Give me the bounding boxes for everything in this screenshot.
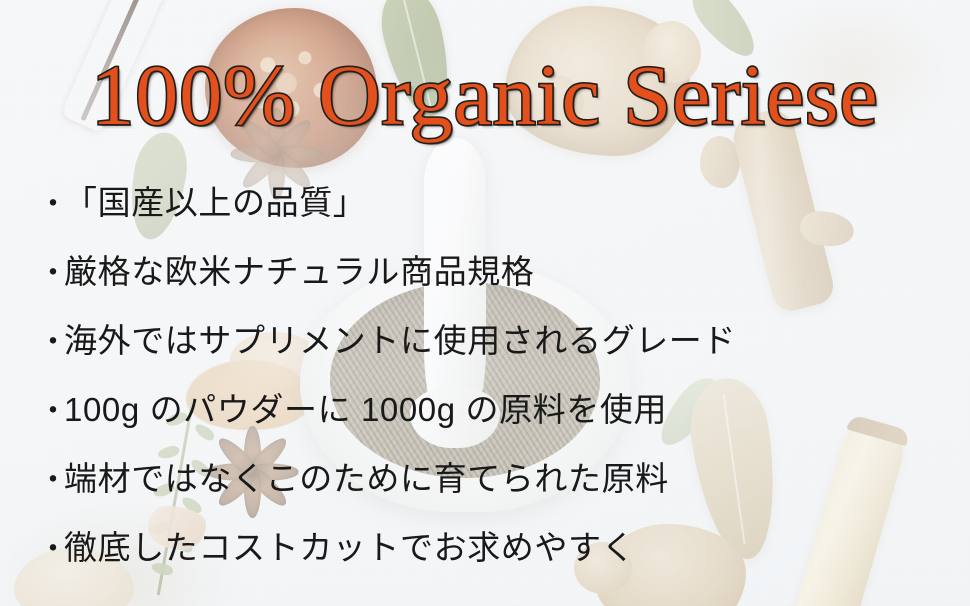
feature-bullet-1: ・ 「国産以上の品質」 — [38, 168, 946, 237]
feature-bullet-3: ・ 海外ではサプリメントに使用されるグレード — [38, 306, 946, 375]
feature-bullet-2-label: 厳格な欧米ナチュラル商品規格 — [64, 237, 534, 306]
bullet-marker-icon: ・ — [38, 377, 64, 446]
bullet-marker-icon: ・ — [38, 515, 64, 584]
feature-bullet-2: ・ 厳格な欧米ナチュラル商品規格 — [38, 237, 946, 306]
feature-bullet-5: ・ 端材ではなくこのために育てられた原料 — [38, 444, 946, 513]
feature-bullet-4: ・ 100g のパウダーに 1000g の原料を使用 — [38, 375, 946, 444]
bullet-marker-icon: ・ — [38, 308, 64, 377]
feature-bullet-1-label: 「国産以上の品質」 — [64, 168, 366, 237]
bullet-marker-icon: ・ — [38, 239, 64, 308]
feature-bullet-5-label: 端材ではなくこのために育てられた原料 — [64, 444, 669, 513]
promo-banner: 100% Organic Seriese ・ 「国産以上の品質」 ・ 厳格な欧米… — [0, 0, 970, 606]
feature-bullet-6-label: 徹底したコストカットでお求めやすく — [64, 513, 635, 582]
feature-bullet-list: ・ 「国産以上の品質」 ・ 厳格な欧米ナチュラル商品規格 ・ 海外ではサプリメン… — [38, 168, 946, 582]
banner-title: 100% Organic Seriese — [0, 52, 970, 138]
feature-bullet-3-label: 海外ではサプリメントに使用されるグレード — [64, 306, 736, 375]
feature-bullet-4-label: 100g のパウダーに 1000g の原料を使用 — [64, 375, 667, 444]
banner-content: 100% Organic Seriese ・ 「国産以上の品質」 ・ 厳格な欧米… — [0, 0, 970, 606]
bullet-marker-icon: ・ — [38, 446, 64, 515]
feature-bullet-6: ・ 徹底したコストカットでお求めやすく — [38, 513, 946, 582]
bullet-marker-icon: ・ — [38, 170, 64, 239]
